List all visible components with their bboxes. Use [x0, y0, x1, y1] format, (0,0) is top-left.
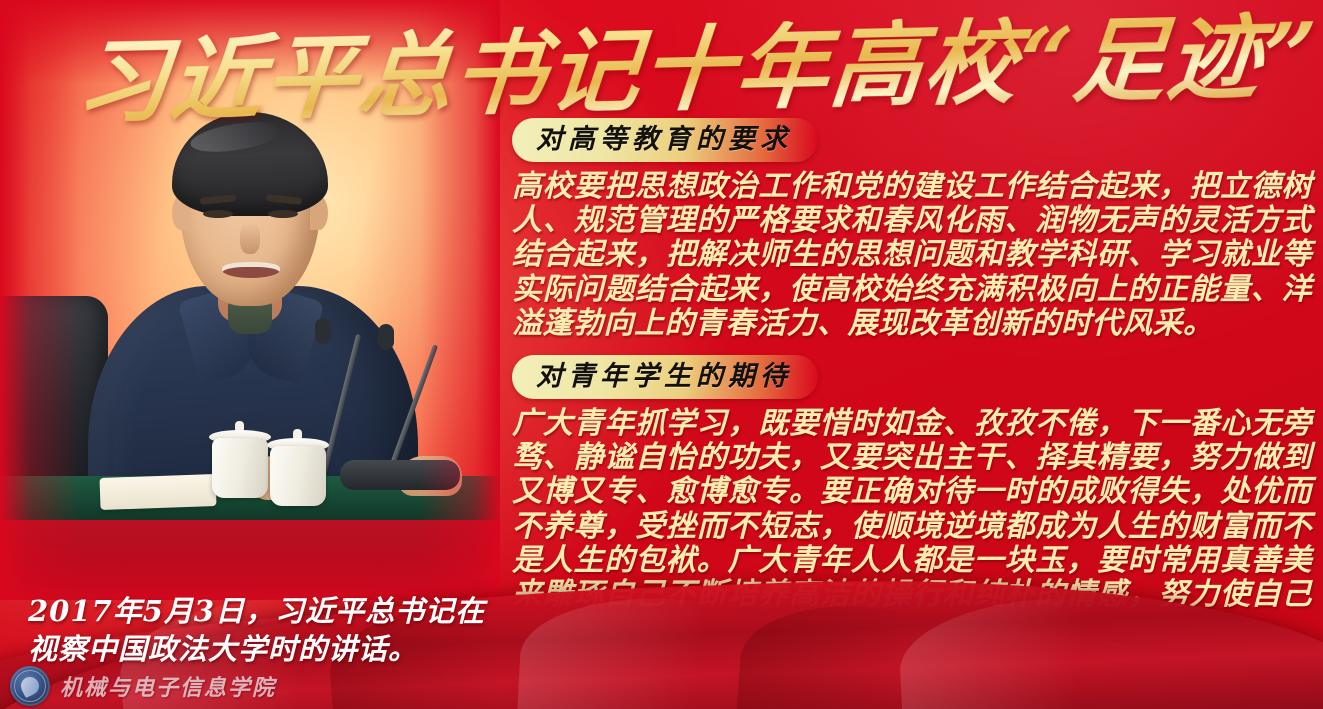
photo-edge-fade [0, 0, 500, 600]
leader-photo [0, 0, 500, 600]
content-column: 对高等教育的要求 高校要把思想政治工作和党的建设工作结合起来，把立德树人、规范管… [512, 118, 1312, 646]
section-heading-pill-2: 对青年学生的期待 [512, 355, 818, 399]
photo-caption: 2017年5月3日，习近平总书记在视察中国政法大学时的讲话。 [28, 592, 498, 668]
college-logo-icon [10, 666, 50, 706]
section-heading-pill-1: 对高等教育的要求 [512, 118, 818, 162]
section-body-2: 广大青年抓学习，既要惜时如金、孜孜不倦，下一番心无旁骛、静谧自怡的功夫，又要突出… [512, 407, 1312, 646]
college-name: 机械与电子信息学院 [60, 670, 276, 702]
institution-credit: 机械与电子信息学院 [10, 666, 276, 706]
poster-canvas: 习近平总书记十年高校“足迹” 对高等教育的要求 高校要把思想政治工作和党的建设工… [0, 0, 1323, 709]
section-heading-text-1: 对高等教育的要求 [536, 124, 792, 155]
section-heading-text-2: 对青年学生的期待 [536, 361, 792, 392]
section-body-1: 高校要把思想政治工作和党的建设工作结合起来，把立德树人、规范管理的严格要求和春风… [512, 170, 1312, 341]
